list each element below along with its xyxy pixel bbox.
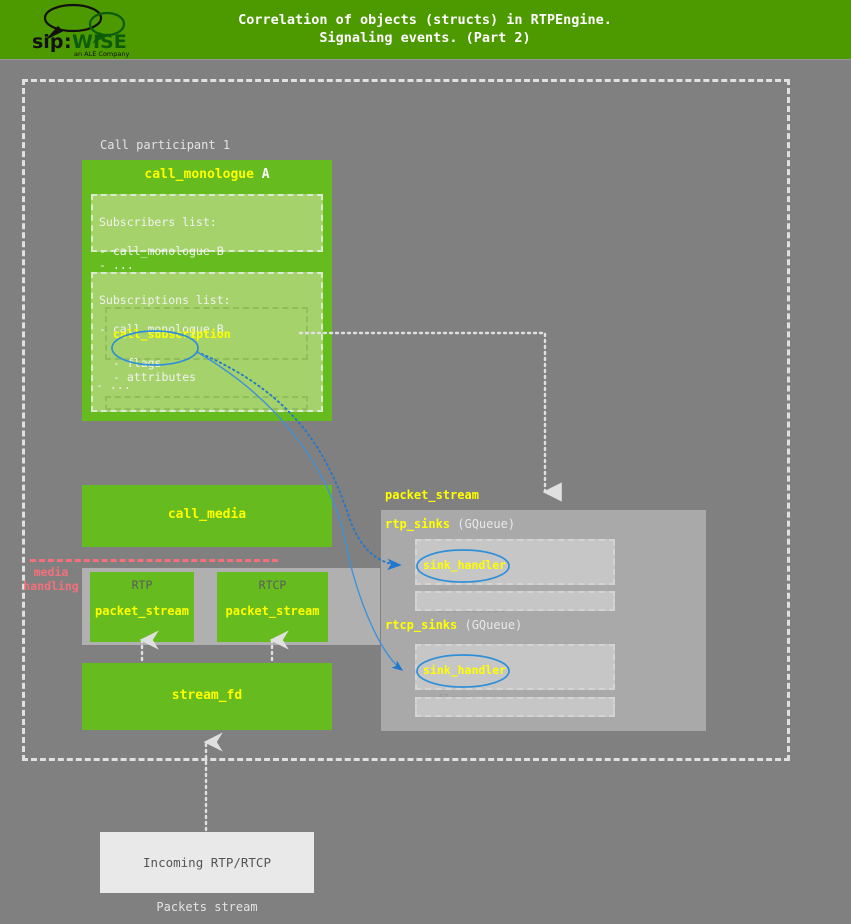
subscribers-items: - call_monologue B - ... <box>99 244 315 273</box>
incoming-packets-box: Incoming RTP/RTCP <box>100 832 314 893</box>
rtcp-label: RTCP <box>217 578 328 592</box>
call-subscription-empty-pane <box>105 396 308 410</box>
rtcp-sink-handler-title: sink_handler <box>423 663 607 678</box>
rtp-sinks-heading: rtp_sinks (GQueue) <box>385 517 515 531</box>
svg-text:sip: sip <box>32 31 63 53</box>
svg-text::: : <box>64 31 72 53</box>
rtp-sink-handler-box: sink_handler - flags - attributes <box>415 539 615 585</box>
subscribers-heading: Subscribers list: <box>99 215 315 230</box>
call-subscription-pane: call_subscription - flags - attributes <box>105 307 308 360</box>
rtcp-packet-stream-box: RTCP packet_stream <box>217 572 328 642</box>
diagram-page: sip : WISE an ALE Company Correlation of… <box>0 0 851 924</box>
sipwise-logo: sip : WISE an ALE Company <box>28 2 152 58</box>
rtp-packet-stream-box: RTP packet_stream <box>90 572 194 642</box>
call-media-box: call_media <box>82 485 332 547</box>
subscriptions-heading: Subscriptions list: <box>99 293 315 308</box>
subscriptions-item-2: - ... <box>96 378 131 392</box>
packets-stream-caption: Packets stream <box>100 900 314 914</box>
call-monologue-title: call_monologue A <box>82 167 332 182</box>
subscribers-list-pane: Subscribers list: - call_monologue B - .… <box>91 194 323 252</box>
rtp-label: RTP <box>90 578 194 592</box>
rtp-title: packet_stream <box>90 604 194 618</box>
rtp-sinks-empty-box <box>415 591 615 611</box>
media-handling-label: media handling <box>22 565 80 593</box>
stream-fd-title: stream_fd <box>82 688 332 703</box>
media-handling-divider <box>30 559 278 562</box>
page-title: Correlation of objects (structs) in RTPE… <box>180 11 670 47</box>
call-media-title: call_media <box>82 507 332 522</box>
call-subscription-fields: - flags - attributes <box>113 356 300 385</box>
stream-fd-box: stream_fd <box>82 663 332 730</box>
page-header: sip : WISE an ALE Company Correlation of… <box>0 0 851 60</box>
packet-stream-panel-label: packet_stream <box>385 488 479 502</box>
svg-text:an ALE Company: an ALE Company <box>74 50 129 58</box>
rtp-sink-handler-title: sink_handler <box>423 558 607 573</box>
call-subscription-title: call_subscription <box>113 327 300 342</box>
packet-stream-detail-panel: rtp_sinks (GQueue) sink_handler - flags … <box>381 510 706 731</box>
rtcp-sinks-empty-box <box>415 697 615 717</box>
call-participant-label: Call participant 1 <box>100 138 230 152</box>
rtcp-sinks-heading: rtcp_sinks (GQueue) <box>385 618 522 632</box>
rtcp-title: packet_stream <box>217 604 328 618</box>
rtcp-sink-handler-box: sink_handler - flags - attributes <box>415 644 615 690</box>
